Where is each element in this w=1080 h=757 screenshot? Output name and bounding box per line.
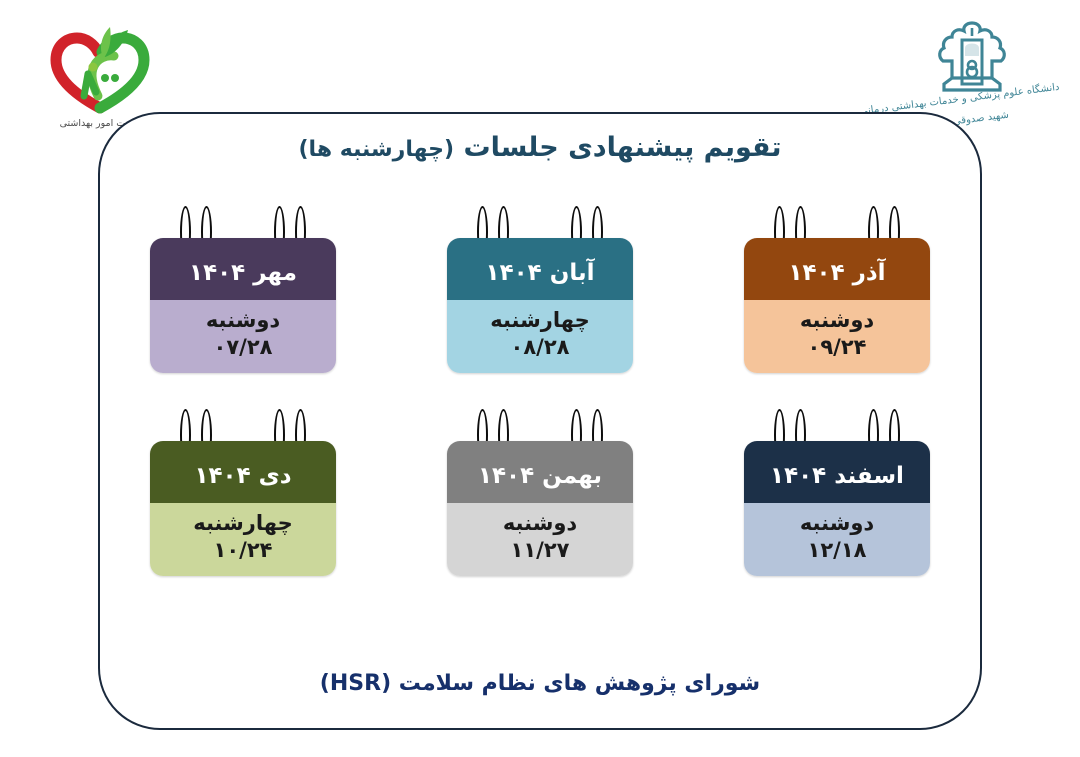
- calendar-date: ۰۷/۲۸: [156, 334, 330, 361]
- calendar-weekday: دوشنبه: [800, 308, 874, 332]
- calendar-date-block: چهارشنبه ۰۸/۲۸: [447, 300, 633, 373]
- calendar-month-label: اسفند ۱۴۰۴: [744, 441, 930, 503]
- calendar-card-esfand[interactable]: اسفند ۱۴۰۴ دوشنبه ۱۲/۱۸: [744, 409, 930, 576]
- calendar-date: ۱۲/۱۸: [750, 537, 924, 564]
- calendar-weekday: دوشنبه: [206, 308, 280, 332]
- board-title-paren: (چهارشنبه ها): [299, 137, 455, 162]
- calendar-date-block: دوشنبه ۱۱/۲۷: [447, 503, 633, 576]
- board-title-main: تقویم پیشنهادی جلسات: [463, 132, 781, 163]
- calendar-row-1: مهر ۱۴۰۴ دوشنبه ۰۷/۲۸ آبان ۱۴۰۴ چهارشنبه: [150, 206, 930, 373]
- calendar-row-2: دی ۱۴۰۴ چهارشنبه ۱۰/۲۴ بهمن ۱۴۰۴ دوشنبه: [150, 409, 930, 576]
- calendar-card-body: اسفند ۱۴۰۴ دوشنبه ۱۲/۱۸: [744, 441, 930, 576]
- calendar-weekday: چهارشنبه: [193, 511, 293, 535]
- calendar-grid: مهر ۱۴۰۴ دوشنبه ۰۷/۲۸ آبان ۱۴۰۴ چهارشنبه: [150, 206, 930, 576]
- yazd-university-emblem-icon: [934, 18, 1010, 96]
- calendar-month-label: آبان ۱۴۰۴: [447, 238, 633, 300]
- calendar-month-label: مهر ۱۴۰۴: [150, 238, 336, 300]
- calendar-weekday: دوشنبه: [800, 511, 874, 535]
- calendar-date-block: چهارشنبه ۱۰/۲۴: [150, 503, 336, 576]
- calendar-card-body: بهمن ۱۴۰۴ دوشنبه ۱۱/۲۷: [447, 441, 633, 576]
- apple-heart-person-icon: [48, 22, 152, 114]
- calendar-card-body: دی ۱۴۰۴ چهارشنبه ۱۰/۲۴: [150, 441, 336, 576]
- calendar-card-body: آبان ۱۴۰۴ چهارشنبه ۰۸/۲۸: [447, 238, 633, 373]
- calendar-month-label: دی ۱۴۰۴: [150, 441, 336, 503]
- calendar-date: ۰۹/۲۴: [750, 334, 924, 361]
- calendar-date: ۰۸/۲۸: [453, 334, 627, 361]
- board-footer: شورای پژوهش های نظام سلامت (HSR): [100, 671, 980, 696]
- board-title: تقویم پیشنهادی جلسات (چهارشنبه ها): [100, 132, 980, 163]
- calendar-month-label: بهمن ۱۴۰۴: [447, 441, 633, 503]
- calendar-weekday: دوشنبه: [503, 511, 577, 535]
- calendar-date-block: دوشنبه ۰۷/۲۸: [150, 300, 336, 373]
- calendar-card-dey[interactable]: دی ۱۴۰۴ چهارشنبه ۱۰/۲۴: [150, 409, 336, 576]
- calendar-card-mehr[interactable]: مهر ۱۴۰۴ دوشنبه ۰۷/۲۸: [150, 206, 336, 373]
- calendar-weekday: چهارشنبه: [490, 308, 590, 332]
- calendar-date: ۱۰/۲۴: [156, 537, 330, 564]
- calendar-card-aban[interactable]: آبان ۱۴۰۴ چهارشنبه ۰۸/۲۸: [447, 206, 633, 373]
- calendar-date: ۱۱/۲۷: [453, 537, 627, 564]
- calendar-card-body: مهر ۱۴۰۴ دوشنبه ۰۷/۲۸: [150, 238, 336, 373]
- calendar-month-label: آذر ۱۴۰۴: [744, 238, 930, 300]
- calendar-date-block: دوشنبه ۱۲/۱۸: [744, 503, 930, 576]
- calendar-card-body: آذر ۱۴۰۴ دوشنبه ۰۹/۲۴: [744, 238, 930, 373]
- calendar-card-azar[interactable]: آذر ۱۴۰۴ دوشنبه ۰۹/۲۴: [744, 206, 930, 373]
- calendar-card-bahman[interactable]: بهمن ۱۴۰۴ دوشنبه ۱۱/۲۷: [447, 409, 633, 576]
- calendar-date-block: دوشنبه ۰۹/۲۴: [744, 300, 930, 373]
- calendar-board-frame: تقویم پیشنهادی جلسات (چهارشنبه ها) مهر ۱…: [98, 112, 982, 730]
